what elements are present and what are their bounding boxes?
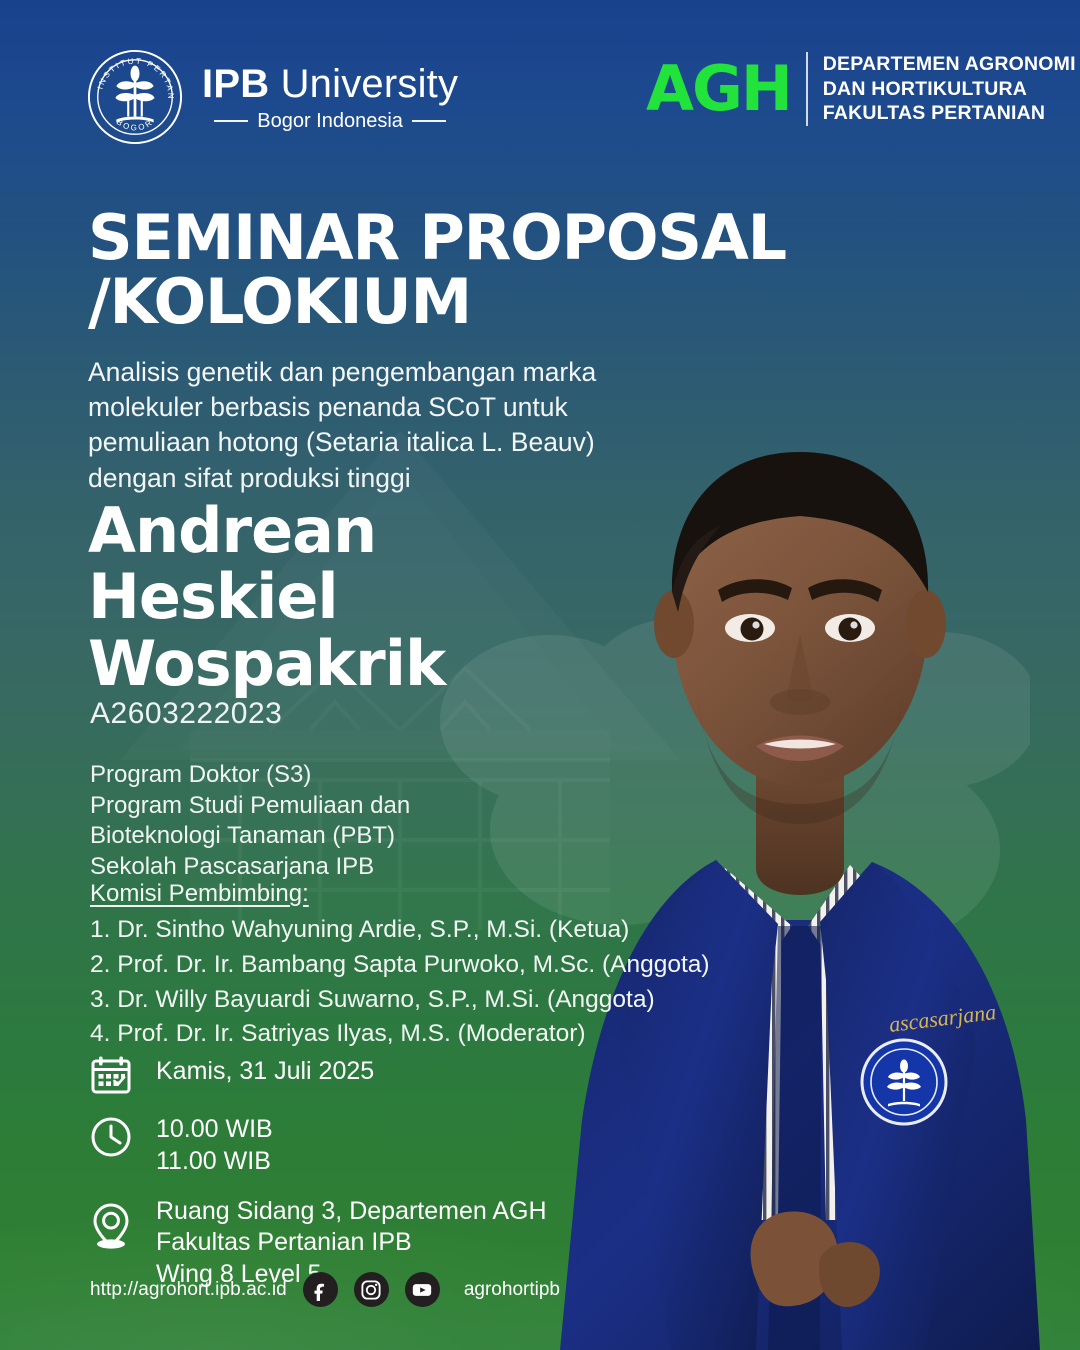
agh-wordmark: AGH: [646, 60, 791, 119]
poster-root: INSTITUT PERTANIAN BOGOR IPB University …: [0, 0, 1080, 1350]
ipb-seal-icon: INSTITUT PERTANIAN BOGOR: [86, 48, 184, 146]
svg-text:ascasarjana: ascasarjana: [888, 999, 998, 1037]
clock-icon: [88, 1110, 134, 1158]
event-time-end: 11.00 WIB: [156, 1146, 273, 1178]
tagline-rule-left: [214, 120, 248, 122]
youtube-icon[interactable]: [405, 1272, 440, 1307]
list-item: 3. Dr. Willy Bayuardi Suwarno, S.P., M.S…: [90, 983, 730, 1018]
event-date: Kamis, 31 Juli 2025: [156, 1056, 374, 1088]
program-line-4: Sekolah Pascasarjana IPB: [90, 852, 630, 883]
list-item: 2. Prof. Dr. Ir. Bambang Sapta Purwoko, …: [90, 948, 730, 983]
instagram-icon[interactable]: [354, 1272, 389, 1307]
map-pin-icon: [88, 1192, 134, 1250]
agh-department-name: DEPARTEMEN AGRONOMI DAN HORTIKULTURA FAK…: [823, 52, 1076, 126]
poster-footer: http://agrohort.ipb.ac.id agrohortipb: [90, 1272, 560, 1307]
event-date-text: Kamis, 31 Juli 2025: [156, 1052, 374, 1088]
student-name: Andrean Heskiel Wospakrik: [88, 498, 648, 697]
agh-line-1: DEPARTEMEN AGRONOMI: [823, 52, 1076, 77]
ipb-wordmark-bold: IPB: [202, 62, 269, 106]
event-time-start: 10.00 WIB: [156, 1114, 273, 1146]
student-name-line-1: Andrean: [88, 498, 648, 564]
student-name-line-2: Heskiel: [88, 564, 648, 630]
event-time-row: 10.00 WIB 11.00 WIB: [88, 1110, 648, 1178]
committee-heading: Komisi Pembimbing:: [90, 880, 730, 908]
event-location-line-1: Ruang Sidang 3, Departemen AGH: [156, 1196, 547, 1228]
ipb-tagline: Bogor Indonesia: [202, 111, 458, 131]
program-line-1: Program Doktor (S3): [90, 760, 630, 791]
committee-list: 1. Dr. Sintho Wahyuning Ardie, S.P., M.S…: [90, 913, 730, 1052]
tagline-rule-right: [412, 120, 446, 122]
event-time-text: 10.00 WIB 11.00 WIB: [156, 1110, 273, 1178]
agh-divider: [806, 52, 808, 126]
program-line-2: Program Studi Pemuliaan dan: [90, 791, 630, 822]
ipb-wordmark: IPB University: [202, 64, 458, 104]
website-url[interactable]: http://agrohort.ipb.ac.id: [90, 1279, 287, 1301]
agh-department-logo: AGH DEPARTEMEN AGRONOMI DAN HORTIKULTURA…: [646, 52, 1076, 126]
list-item: 1. Dr. Sintho Wahyuning Ardie, S.P., M.S…: [90, 913, 730, 948]
list-item: 4. Prof. Dr. Ir. Satriyas Ilyas, M.S. (M…: [90, 1017, 730, 1052]
facebook-icon[interactable]: [303, 1272, 338, 1307]
poster-header: INSTITUT PERTANIAN BOGOR IPB University …: [0, 0, 1080, 160]
student-name-line-3: Wospakrik: [88, 631, 648, 697]
supervisory-committee: Komisi Pembimbing: 1. Dr. Sintho Wahyuni…: [90, 880, 730, 1052]
headline-line-2: /KOLOKIUM: [88, 270, 808, 334]
student-id: A2603222023: [90, 697, 282, 731]
ipb-wordmark-rest: University: [269, 62, 458, 106]
research-title: Analisis genetik dan pengembangan marka …: [88, 355, 628, 496]
ipb-university-logo: INSTITUT PERTANIAN BOGOR IPB University …: [86, 48, 458, 146]
agh-line-2: DAN HORTIKULTURA: [823, 77, 1076, 102]
social-handle: agrohortipb: [464, 1279, 560, 1301]
event-location-line-2: Fakultas Pertanian IPB: [156, 1227, 547, 1259]
program-line-3: Bioteknologi Tanaman (PBT): [90, 821, 630, 852]
page-title: SEMINAR PROPOSAL /KOLOKIUM: [88, 206, 808, 334]
agh-line-3: FAKULTAS PERTANIAN: [823, 101, 1076, 126]
calendar-icon: [88, 1052, 134, 1096]
ipb-tagline-text: Bogor Indonesia: [257, 111, 403, 131]
headline-line-1: SEMINAR PROPOSAL: [88, 201, 786, 274]
event-details: Kamis, 31 Juli 2025 10.00 WIB 11.00 WIB: [88, 1052, 648, 1305]
program-details: Program Doktor (S3) Program Studi Pemuli…: [90, 760, 630, 883]
event-date-row: Kamis, 31 Juli 2025: [88, 1052, 648, 1096]
